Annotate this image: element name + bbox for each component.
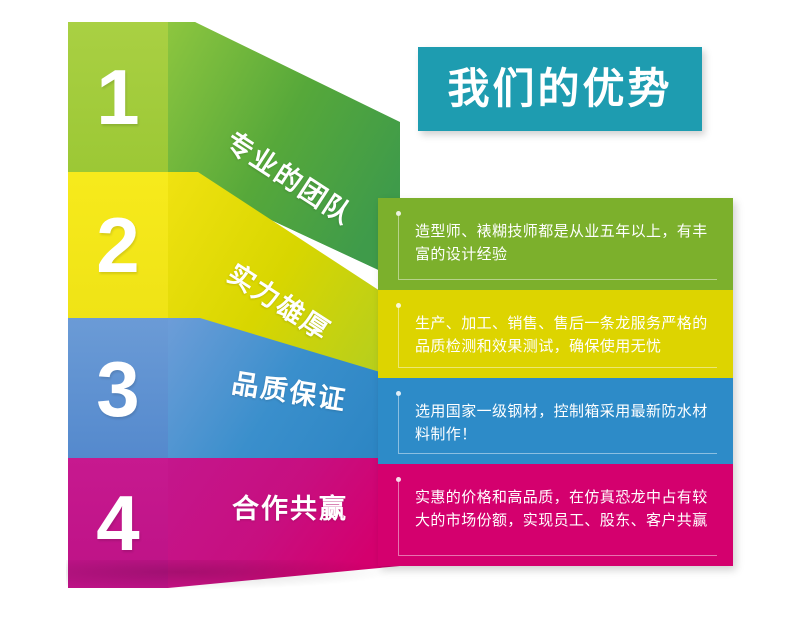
- bullet-dot-icon: [396, 477, 401, 482]
- bullet-dot-icon: [396, 391, 401, 396]
- infographic-canvas: 1 专业的团队 2 实力雄厚: [0, 0, 800, 622]
- bullet-dot-icon: [396, 211, 401, 216]
- bullet-dot-icon: [396, 303, 401, 308]
- row-1-number-wrapper: 1: [68, 22, 168, 172]
- description-inner-3: 选用国家一级钢材，控制箱采用最新防水材料制作！: [398, 396, 717, 454]
- description-card-3: 选用国家一级钢材，控制箱采用最新防水材料制作！: [378, 378, 733, 464]
- row-1-number: 1: [96, 58, 139, 136]
- row-3-number: 3: [96, 350, 139, 428]
- row-4-number: 4: [96, 484, 139, 562]
- page-title-banner: 我们的优势: [418, 47, 702, 131]
- description-inner-4: 实惠的价格和高品质，在仿真恐龙中占有较大的市场份额，实现员工、股东、客户共赢: [398, 482, 717, 556]
- description-inner-1: 造型师、裱糊技师都是从业五年以上，有丰富的设计经验: [398, 216, 717, 280]
- page-title: 我们的优势: [447, 68, 672, 110]
- description-inner-2: 生产、加工、销售、售后一条龙服务严格的品质检测和效果测试，确保使用无忧: [398, 308, 717, 368]
- row-2-number: 2: [96, 206, 139, 284]
- description-card-2: 生产、加工、销售、售后一条龙服务严格的品质检测和效果测试，确保使用无忧: [378, 290, 733, 378]
- row-4-number-wrapper: 4: [68, 458, 168, 588]
- row-2-number-wrapper: 2: [68, 172, 168, 318]
- description-card-1: 造型师、裱糊技师都是从业五年以上，有丰富的设计经验: [378, 198, 733, 290]
- description-text-1: 造型师、裱糊技师都是从业五年以上，有丰富的设计经验: [415, 220, 717, 267]
- row-4-label: 合作共赢: [232, 496, 348, 523]
- description-text-3: 选用国家一级钢材，控制箱采用最新防水材料制作！: [415, 400, 717, 447]
- description-text-4: 实惠的价格和高品质，在仿真恐龙中占有较大的市场份额，实现员工、股东、客户共赢: [415, 486, 717, 533]
- description-card-4: 实惠的价格和高品质，在仿真恐龙中占有较大的市场份额，实现员工、股东、客户共赢: [378, 464, 733, 566]
- description-text-2: 生产、加工、销售、售后一条龙服务严格的品质检测和效果测试，确保使用无忧: [415, 312, 717, 359]
- row-3-number-wrapper: 3: [68, 318, 168, 460]
